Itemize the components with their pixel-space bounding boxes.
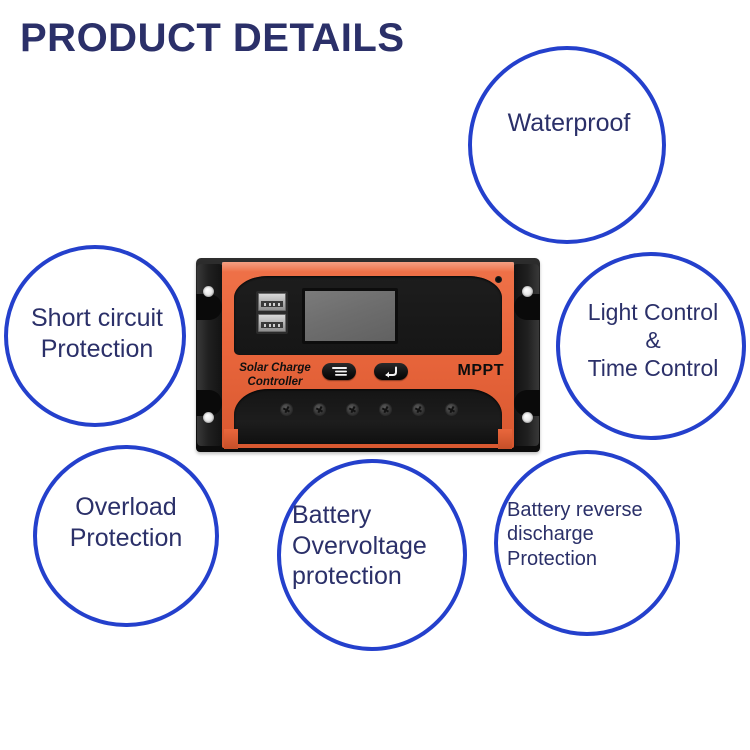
feature-label-overload: Overload Protection	[46, 492, 206, 553]
feature-label-light-time-control: Light Control & Time Control	[563, 298, 743, 382]
usb-pin	[278, 324, 280, 327]
usb-port-lower[interactable]	[258, 314, 286, 332]
usb-pin	[264, 303, 266, 306]
usb-pin	[273, 324, 275, 327]
screw-hole	[203, 286, 214, 297]
terminal-screw[interactable]	[379, 403, 392, 416]
side-orange-strip-left	[224, 429, 238, 449]
screw-hole	[522, 286, 533, 297]
usb-pin	[278, 303, 280, 306]
bottom-recess-panel	[234, 389, 502, 444]
back-arrow-icon	[383, 366, 399, 378]
brand-label: Solar Charge Controller	[236, 361, 314, 389]
terminal-screw[interactable]	[412, 403, 425, 416]
model-label: MPPT	[458, 362, 504, 380]
feature-label-waterproof: Waterproof	[483, 108, 655, 139]
dual-usb-port[interactable]	[256, 291, 288, 334]
feature-label-battery-reverse-discharge: Battery reverse discharge Protection	[507, 498, 687, 571]
faceplate: Solar Charge Controller	[222, 262, 514, 448]
mounting-bracket-right	[513, 264, 539, 446]
bracket-notch	[196, 294, 222, 320]
light-sensor-icon	[495, 276, 502, 283]
lcd-screen	[302, 288, 398, 344]
usb-contact-strip	[261, 301, 283, 307]
top-recess-panel	[234, 276, 502, 355]
menu-icon	[331, 366, 348, 377]
usb-pin	[264, 324, 266, 327]
feature-label-short-circuit: Short circuit Protection	[6, 303, 188, 364]
terminal-block	[280, 403, 458, 416]
screw-hole	[203, 412, 214, 423]
mounting-bracket-left	[197, 264, 223, 446]
terminal-screw[interactable]	[445, 403, 458, 416]
feature-circle-waterproof	[468, 46, 666, 244]
product-details-page: PRODUCT DETAILS Waterproof Short circuit…	[0, 0, 750, 750]
product-image-solar-charge-controller: Solar Charge Controller	[196, 256, 540, 454]
controller-body: Solar Charge Controller	[196, 258, 540, 452]
page-title: PRODUCT DETAILS	[20, 16, 405, 61]
side-orange-strip-right	[498, 429, 512, 449]
back-button[interactable]	[374, 363, 408, 380]
faceplate-highlight	[222, 262, 514, 272]
bracket-notch	[514, 294, 540, 320]
terminal-screw[interactable]	[313, 403, 326, 416]
usb-contact-strip	[261, 322, 283, 328]
usb-pin	[269, 303, 271, 306]
feature-label-battery-overvoltage: Battery Overvoltage protection	[292, 500, 468, 592]
usb-pin	[269, 324, 271, 327]
screw-hole	[522, 412, 533, 423]
terminal-screw[interactable]	[346, 403, 359, 416]
menu-button[interactable]	[322, 363, 356, 380]
usb-pin	[273, 303, 275, 306]
terminal-screw[interactable]	[280, 403, 293, 416]
usb-port-upper[interactable]	[258, 293, 286, 311]
